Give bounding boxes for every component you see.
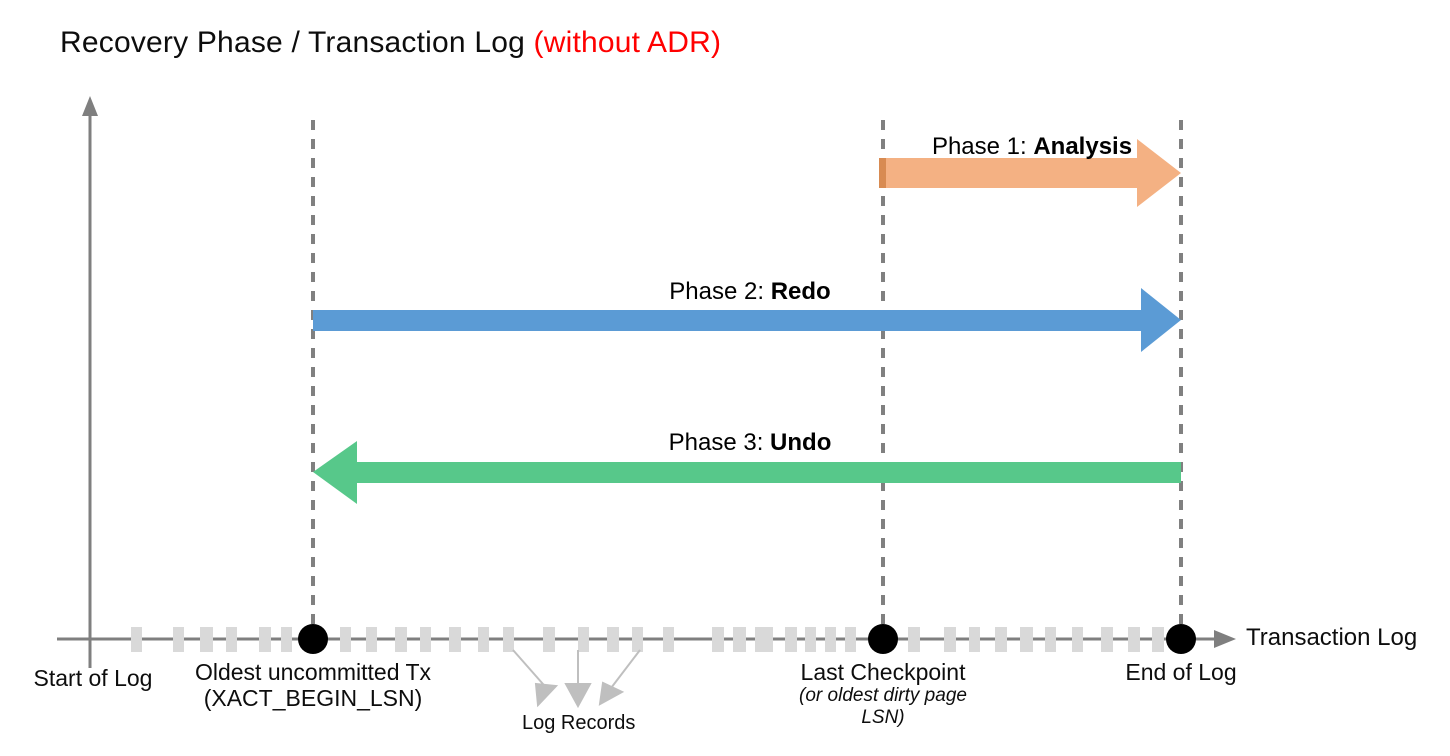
phase-2-prefix: Phase 2: [669,278,770,305]
dashed-guides [313,120,1181,636]
phase-3-prefix: Phase 3: [669,429,770,456]
diagram-canvas: Recovery Phase / Transaction Log (withou… [0,0,1450,756]
phase-2-label: Phase 2: Redo [500,278,1000,306]
label-last-checkpoint: Last Checkpoint (or oldest dirty page LS… [743,659,1023,729]
last-checkpoint-line2: (or oldest dirty page [743,685,1023,707]
vertical-axis [82,96,98,668]
phase-1-prefix: Phase 1: [932,133,1033,160]
label-end-of-log: End of Log [1061,659,1301,685]
dot-oldest-uncommitted-tx [298,624,328,654]
diagram-graphics [0,0,1450,756]
phase-2-name: Redo [771,278,831,305]
phase-1-label: Phase 1: Analysis [883,133,1181,161]
label-oldest-uncommitted-tx: Oldest uncommitted Tx (XACT_BEGIN_LSN) [133,659,493,712]
oldest-tx-line1: Oldest uncommitted Tx [195,659,431,685]
phase-3-name: Undo [770,429,831,456]
oldest-tx-line2: (XACT_BEGIN_LSN) [133,685,493,711]
phase-3-label: Phase 3: Undo [500,429,1000,457]
x-axis-label: Transaction Log [1246,624,1417,652]
phase-1-name: Analysis [1033,133,1132,160]
dot-last-checkpoint [868,624,898,654]
dot-end-of-log [1166,624,1196,654]
last-checkpoint-line1: Last Checkpoint [801,659,966,685]
log-records-callout-arrows [513,650,640,706]
log-records-label: Log Records [522,712,635,735]
last-checkpoint-line3: LSN) [743,707,1023,729]
